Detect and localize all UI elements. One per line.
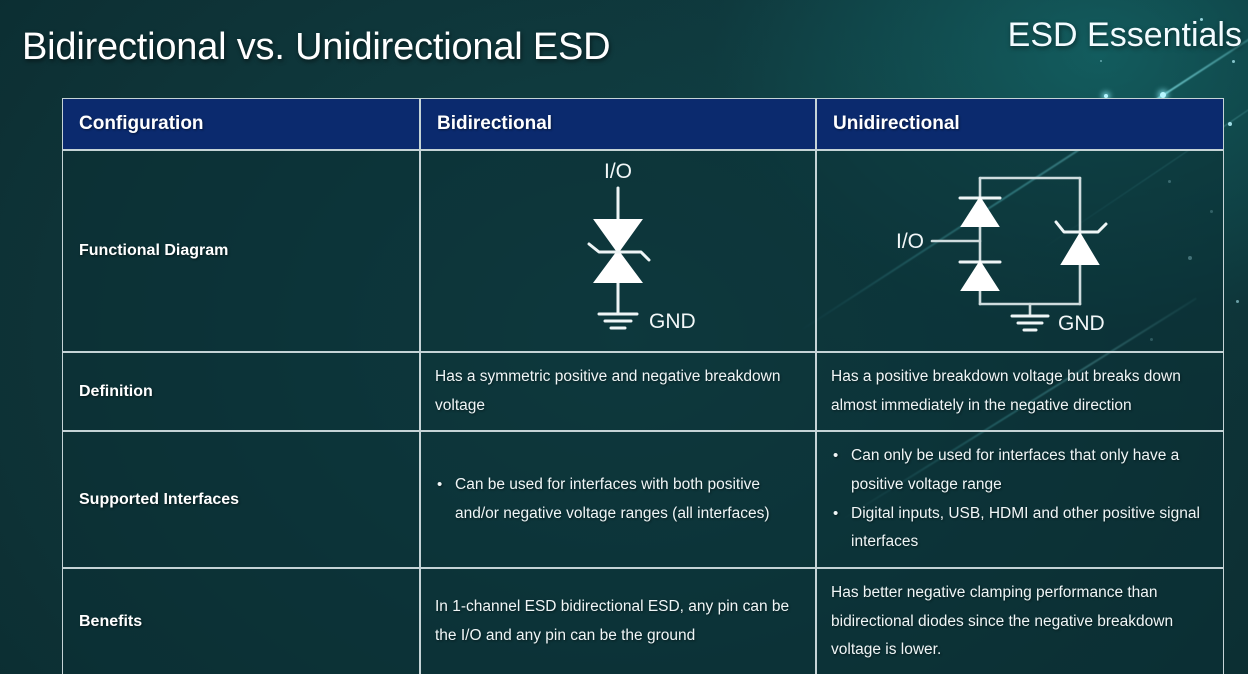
bullet-list: Can only be used for interfaces that onl…: [831, 442, 1209, 557]
list-item: Can be used for interfaces with both pos…: [435, 471, 801, 528]
io-label: I/O: [604, 160, 632, 183]
cell-benefits-bidirectional: In 1-channel ESD bidirectional ESD, any …: [420, 568, 816, 674]
cell-benefits-unidirectional: Has better negative clamping performance…: [816, 568, 1224, 674]
header-unidirectional: Unidirectional: [816, 98, 1224, 150]
cell-definition-unidirectional: Has a positive breakdown voltage but bre…: [816, 352, 1224, 431]
steering-diode-lower-icon: [962, 262, 998, 290]
cell-bidirectional-diagram: I/O GND: [420, 150, 816, 352]
page-title: Bidirectional vs. Unidirectional ESD: [22, 26, 610, 69]
table-head: Configuration Bidirectional Unidirection…: [62, 98, 1224, 150]
gnd-label: GND: [1058, 312, 1105, 335]
cell-interfaces-bidirectional: Can be used for interfaces with both pos…: [420, 431, 816, 568]
table-row: Benefits In 1-channel ESD bidirectional …: [62, 568, 1224, 674]
list-item: Digital inputs, USB, HDMI and other posi…: [831, 500, 1209, 557]
star-dot-icon: [1228, 122, 1232, 126]
table-row: Functional Diagram: [62, 150, 1224, 352]
series-label: ESD Essentials: [1008, 16, 1242, 55]
unidirectional-schematic-icon: I/O GND: [870, 156, 1170, 346]
comparison-table: Configuration Bidirectional Unidirection…: [62, 98, 1224, 674]
table-row: Definition Has a symmetric positive and …: [62, 352, 1224, 431]
steering-diode-upper-icon: [962, 198, 998, 226]
zener-diode-icon: [1062, 234, 1098, 264]
io-label: I/O: [896, 230, 924, 253]
slide-canvas: Bidirectional vs. Unidirectional ESD ESD…: [0, 0, 1248, 674]
gnd-label: GND: [649, 310, 696, 333]
cell-definition-bidirectional: Has a symmetric positive and negative br…: [420, 352, 816, 431]
diode-triangle-lower-icon: [595, 251, 641, 282]
table-body: Functional Diagram: [62, 150, 1224, 674]
header-configuration: Configuration: [62, 98, 420, 150]
row-label-functional-diagram: Functional Diagram: [62, 150, 420, 352]
row-label-supported-interfaces: Supported Interfaces: [62, 431, 420, 568]
cell-interfaces-unidirectional: Can only be used for interfaces that onl…: [816, 431, 1224, 568]
star-dot-icon: [1236, 300, 1239, 303]
cell-unidirectional-diagram: I/O GND: [816, 150, 1224, 352]
unidirectional-tvs-symbol-icon: I/O GND: [817, 151, 1223, 351]
diode-triangle-upper-icon: [595, 220, 641, 252]
table-header-row: Configuration Bidirectional Unidirection…: [62, 98, 1224, 150]
bidirectional-schematic-icon: I/O GND: [503, 156, 733, 346]
bullet-list: Can be used for interfaces with both pos…: [435, 471, 801, 528]
header-bidirectional: Bidirectional: [420, 98, 816, 150]
list-item: Can only be used for interfaces that onl…: [831, 442, 1209, 499]
row-label-definition: Definition: [62, 352, 420, 431]
slide-header: Bidirectional vs. Unidirectional ESD ESD…: [0, 0, 1248, 88]
table-row: Supported Interfaces Can be used for int…: [62, 431, 1224, 568]
bidirectional-tvs-symbol-icon: I/O GND: [421, 151, 815, 351]
row-label-benefits: Benefits: [62, 568, 420, 674]
